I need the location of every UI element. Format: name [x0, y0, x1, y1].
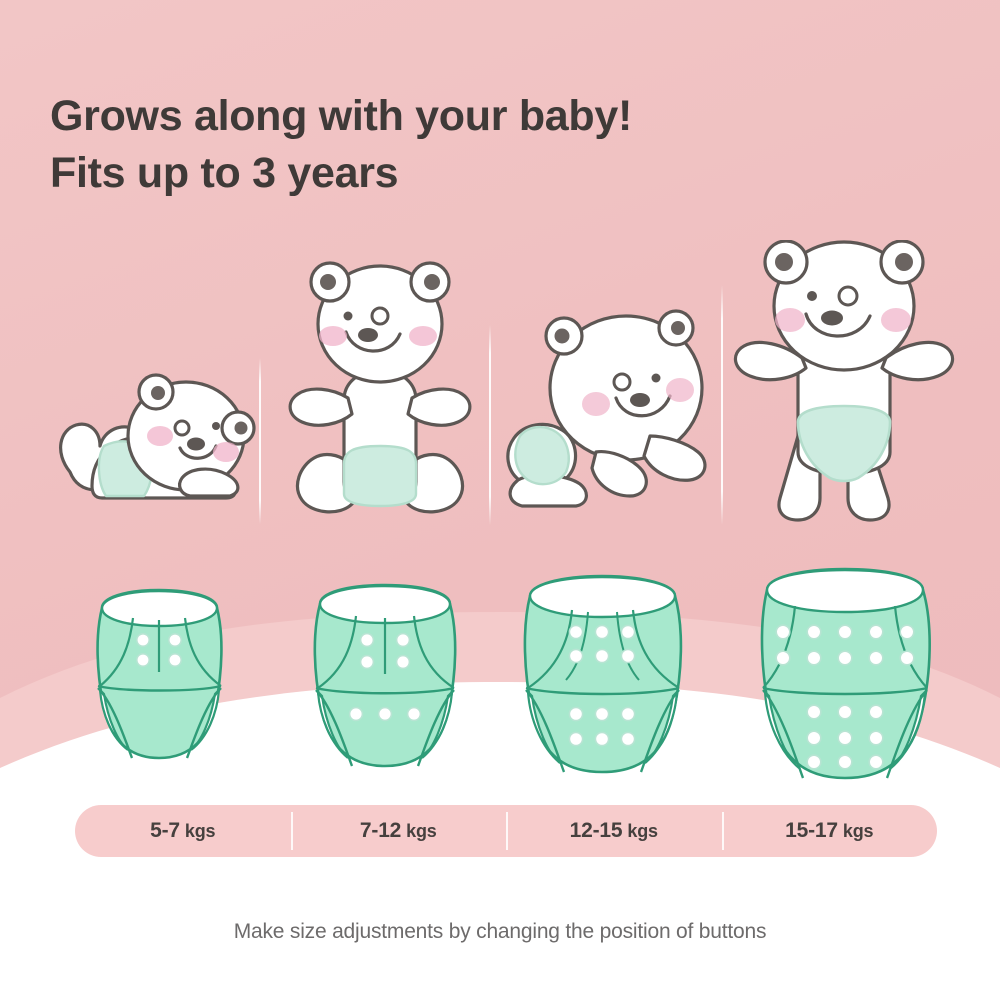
- diaper-12-buttons-icon: [500, 568, 705, 780]
- weight-range-2: 7-12: [360, 819, 401, 843]
- footer-caption: Make size adjustments by changing the po…: [0, 920, 1000, 944]
- bear-divider-3: [721, 285, 723, 525]
- weight-range-3: 12-15: [570, 819, 623, 843]
- weight-unit-1: kgs: [185, 821, 215, 842]
- bear-crawling-icon: [500, 240, 715, 540]
- diaper-19-buttons-icon: [735, 560, 955, 785]
- weight-range-1: 5-7: [150, 819, 180, 843]
- page-title: Grows along with your baby! Fits up to 3…: [50, 88, 632, 202]
- bear-standing-icon: [732, 240, 957, 540]
- weight-unit-3: kgs: [627, 821, 657, 842]
- headline-line-1: Grows along with your baby!: [50, 92, 632, 140]
- infographic-canvas: Grows along with your baby! Fits up to 3…: [0, 0, 1000, 1000]
- weight-cell-1: 5-7 kgs: [75, 805, 291, 857]
- weight-cell-3: 12-15 kgs: [506, 805, 722, 857]
- bear-divider-2: [489, 325, 491, 525]
- diaper-7-buttons-icon: [290, 576, 480, 774]
- bear-illustration-row: [0, 240, 1000, 540]
- diaper-4-buttons-icon: [72, 582, 247, 767]
- headline-line-2: Fits up to 3 years: [50, 145, 632, 202]
- bear-sitting-icon: [282, 240, 477, 540]
- weight-cell-4: 15-17 kgs: [722, 805, 938, 857]
- diaper-row: [0, 560, 1000, 790]
- weight-unit-4: kgs: [843, 821, 873, 842]
- bear-lying-icon: [30, 240, 260, 540]
- weight-unit-2: kgs: [406, 821, 436, 842]
- weight-cell-2: 7-12 kgs: [291, 805, 507, 857]
- weight-range-4: 15-17: [785, 819, 838, 843]
- weight-range-bar: 5-7 kgs 7-12 kgs 12-15 kgs 15-17 kgs: [75, 805, 937, 857]
